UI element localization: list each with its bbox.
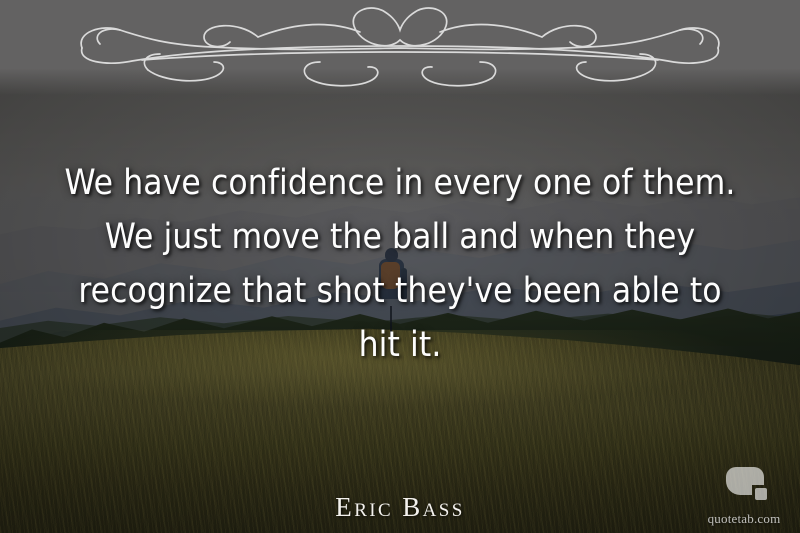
watermark-site-label: quotetab.com xyxy=(698,511,790,527)
site-watermark[interactable]: quotetab.com xyxy=(698,465,790,527)
quote-image-card: We have confidence in every one of them.… xyxy=(0,0,800,533)
flourish-icon xyxy=(72,4,728,88)
decorative-flourish-ornament xyxy=(72,4,728,88)
author-name: Eric Bass xyxy=(0,492,800,523)
quotetab-logo-icon[interactable] xyxy=(724,465,776,509)
q-mark-icon xyxy=(724,465,776,509)
quote-text: We have confidence in every one of them.… xyxy=(58,156,742,372)
